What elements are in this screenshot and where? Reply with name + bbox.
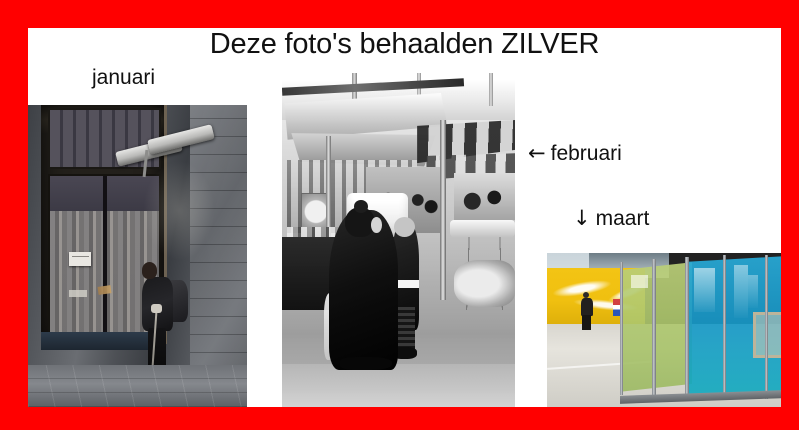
photo-januari (28, 105, 247, 407)
photo-maart-glass-mullion (620, 262, 624, 394)
photo-maart-glass-mullion (765, 255, 769, 400)
photo-februari-right-stall-goods (454, 173, 515, 220)
photo-maart-glass-reflection (748, 275, 757, 309)
caption-maart: ↓maart (573, 206, 649, 231)
photo-maart-glass-reflection (694, 268, 715, 311)
photo-februari-post (489, 73, 493, 106)
slide-canvas: Deze foto's behaalden ZILVER januari ←fe… (28, 28, 781, 407)
photo-maart-person-legs (582, 315, 591, 330)
caption-februari: ←februari (528, 141, 622, 166)
photo-februari-tent-pole (326, 136, 331, 236)
photo-maart-glass-mullion (652, 259, 656, 395)
photo-maart-glass-mullion (723, 255, 727, 398)
photo-februari-tent-pole (440, 120, 445, 300)
photo-maart-green-glass-reflection (631, 275, 647, 289)
photo-januari-notice-paper (69, 252, 91, 266)
photo-maart-glass-mullion (685, 257, 689, 397)
arrow-left-icon: ← (528, 141, 546, 165)
caption-maart-label: maart (596, 207, 650, 230)
caption-januari: januari (92, 66, 155, 90)
arrow-down-icon: ↓ (573, 206, 591, 230)
photo-februari-ground (282, 364, 515, 407)
photo-maart-person-head (583, 292, 589, 298)
photo-januari-light-glow (142, 159, 216, 262)
photo-januari-crutch-cuff (151, 304, 162, 313)
page-title: Deze foto's behaalden ZILVER (28, 28, 781, 61)
photo-maart (547, 253, 781, 407)
caption-februari-label: februari (551, 142, 622, 165)
photo-januari-mullion (103, 176, 107, 333)
photo-februari-child-head (394, 217, 415, 237)
photo-februari-child-legs (396, 307, 415, 350)
photo-maart-person-body (581, 298, 593, 316)
photo-februari-adult-shoes (340, 357, 391, 370)
photo-januari-threshold (41, 332, 164, 350)
photo-januari-man-head (142, 262, 157, 279)
photo-februari-right-table (450, 220, 515, 237)
photo-maart-glass-reflection (734, 265, 748, 317)
photo-februari (282, 73, 515, 407)
slide: Deze foto's behaalden ZILVER januari ←fe… (0, 0, 799, 430)
photo-januari-pavement (28, 365, 247, 407)
photo-januari-vent (69, 290, 87, 298)
photo-februari-sacks (454, 260, 515, 307)
caption-januari-label: januari (92, 66, 155, 89)
